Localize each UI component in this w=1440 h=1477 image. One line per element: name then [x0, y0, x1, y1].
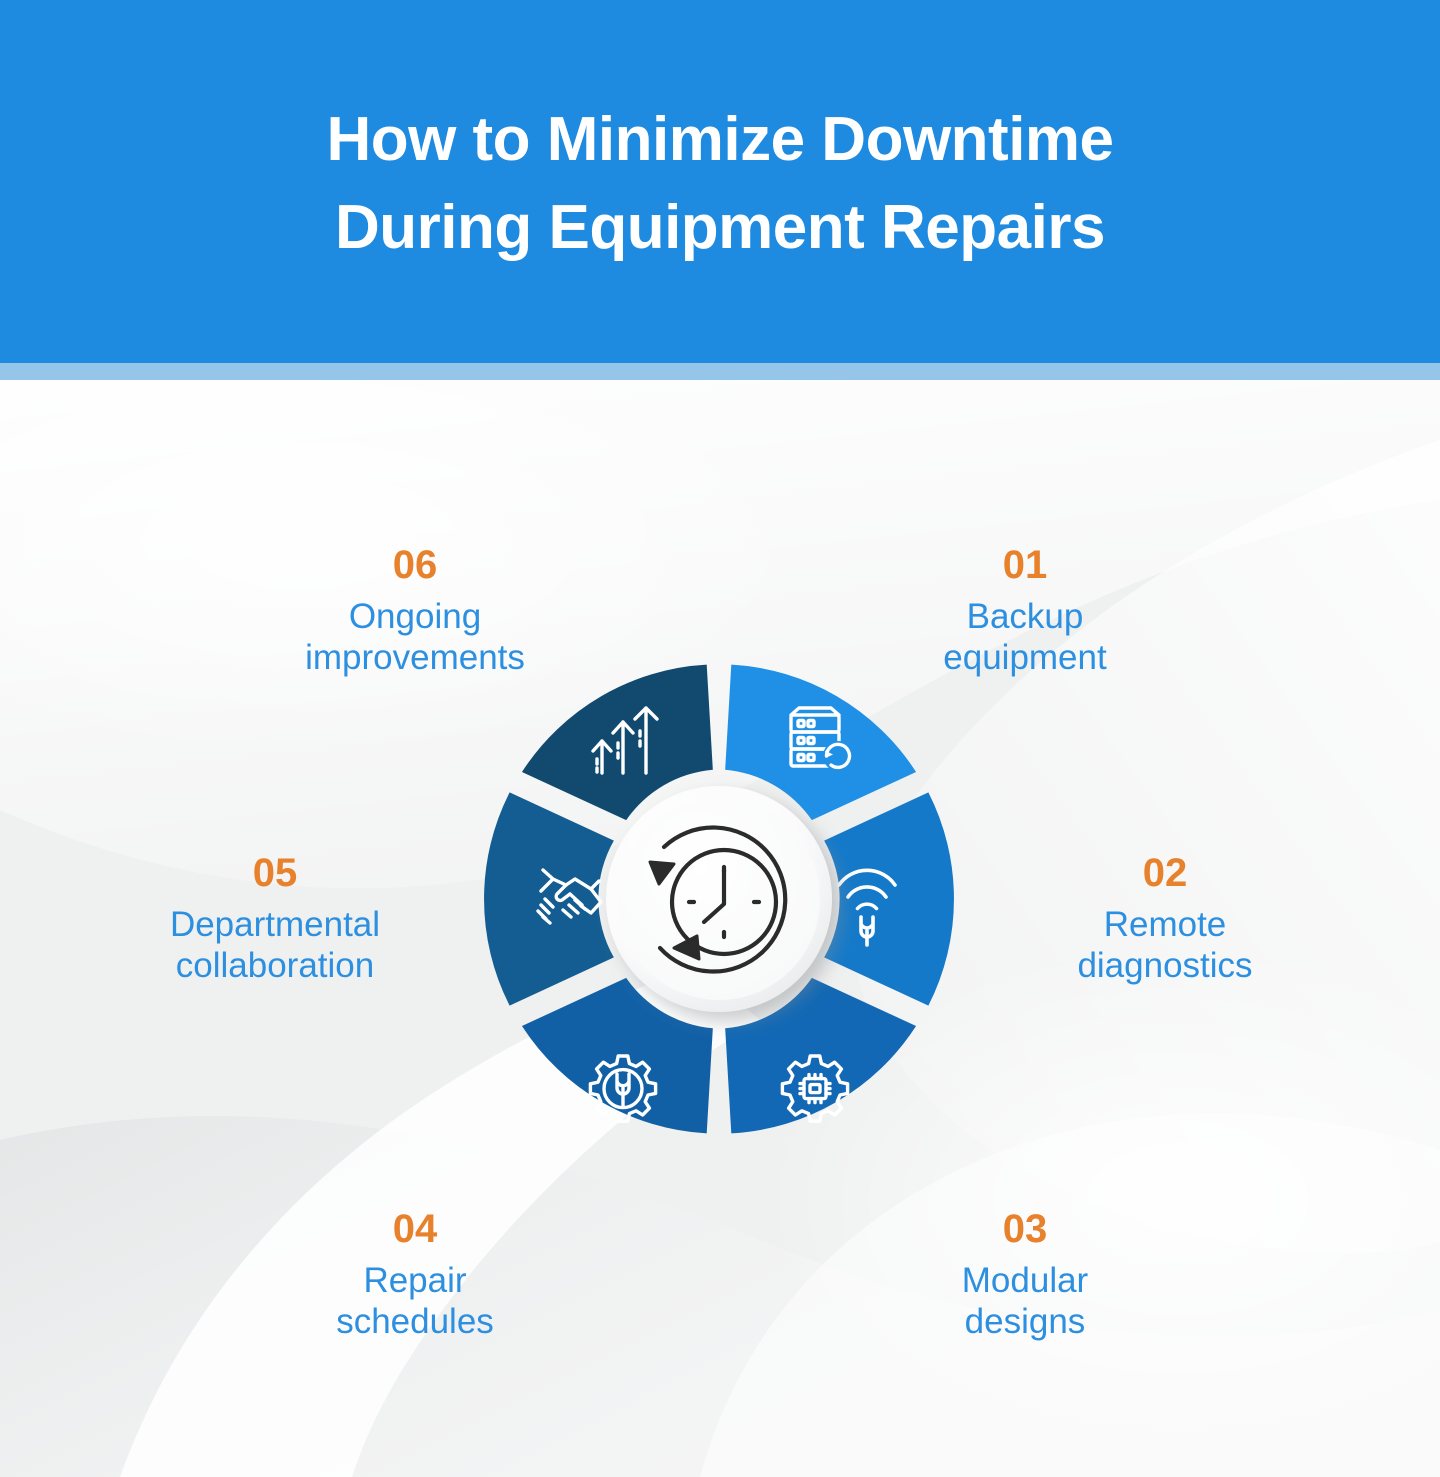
wheel-label-02: 02 Remote diagnostics [1000, 852, 1330, 987]
wheel-segment-02[interactable] [824, 792, 954, 1005]
label-text-06: Ongoing improvements [250, 596, 580, 679]
content-area: 01 Backup equipment 02 Remote diagnostic… [0, 380, 1440, 1477]
wheel-label-06: 06 Ongoing improvements [250, 544, 580, 679]
wheel-label-05: 05 Departmental collaboration [110, 852, 440, 987]
label-text-05: Departmental collaboration [110, 904, 440, 987]
wheel-label-04: 04 Repair schedules [250, 1208, 580, 1343]
wheel-label-01: 01 Backup equipment [860, 544, 1190, 679]
wheel-hub [606, 786, 832, 1012]
label-number-04: 04 [250, 1208, 580, 1250]
header-underline [0, 363, 1440, 380]
label-number-03: 03 [860, 1208, 1190, 1250]
label-text-03: Modular designs [860, 1260, 1190, 1343]
page-title: How to Minimize Downtime During Equipmen… [0, 96, 1440, 272]
process-wheel [419, 599, 1019, 1199]
label-text-02: Remote diagnostics [1000, 904, 1330, 987]
label-number-05: 05 [110, 852, 440, 894]
header-banner: How to Minimize Downtime During Equipmen… [0, 0, 1440, 363]
label-number-01: 01 [860, 544, 1190, 586]
label-text-04: Repair schedules [250, 1260, 580, 1343]
wheel-segment-05[interactable] [484, 792, 614, 1005]
label-number-02: 02 [1000, 852, 1330, 894]
wheel-label-03: 03 Modular designs [860, 1208, 1190, 1343]
infographic-page: How to Minimize Downtime During Equipmen… [0, 0, 1440, 1477]
label-number-06: 06 [250, 544, 580, 586]
label-text-01: Backup equipment [860, 596, 1190, 679]
